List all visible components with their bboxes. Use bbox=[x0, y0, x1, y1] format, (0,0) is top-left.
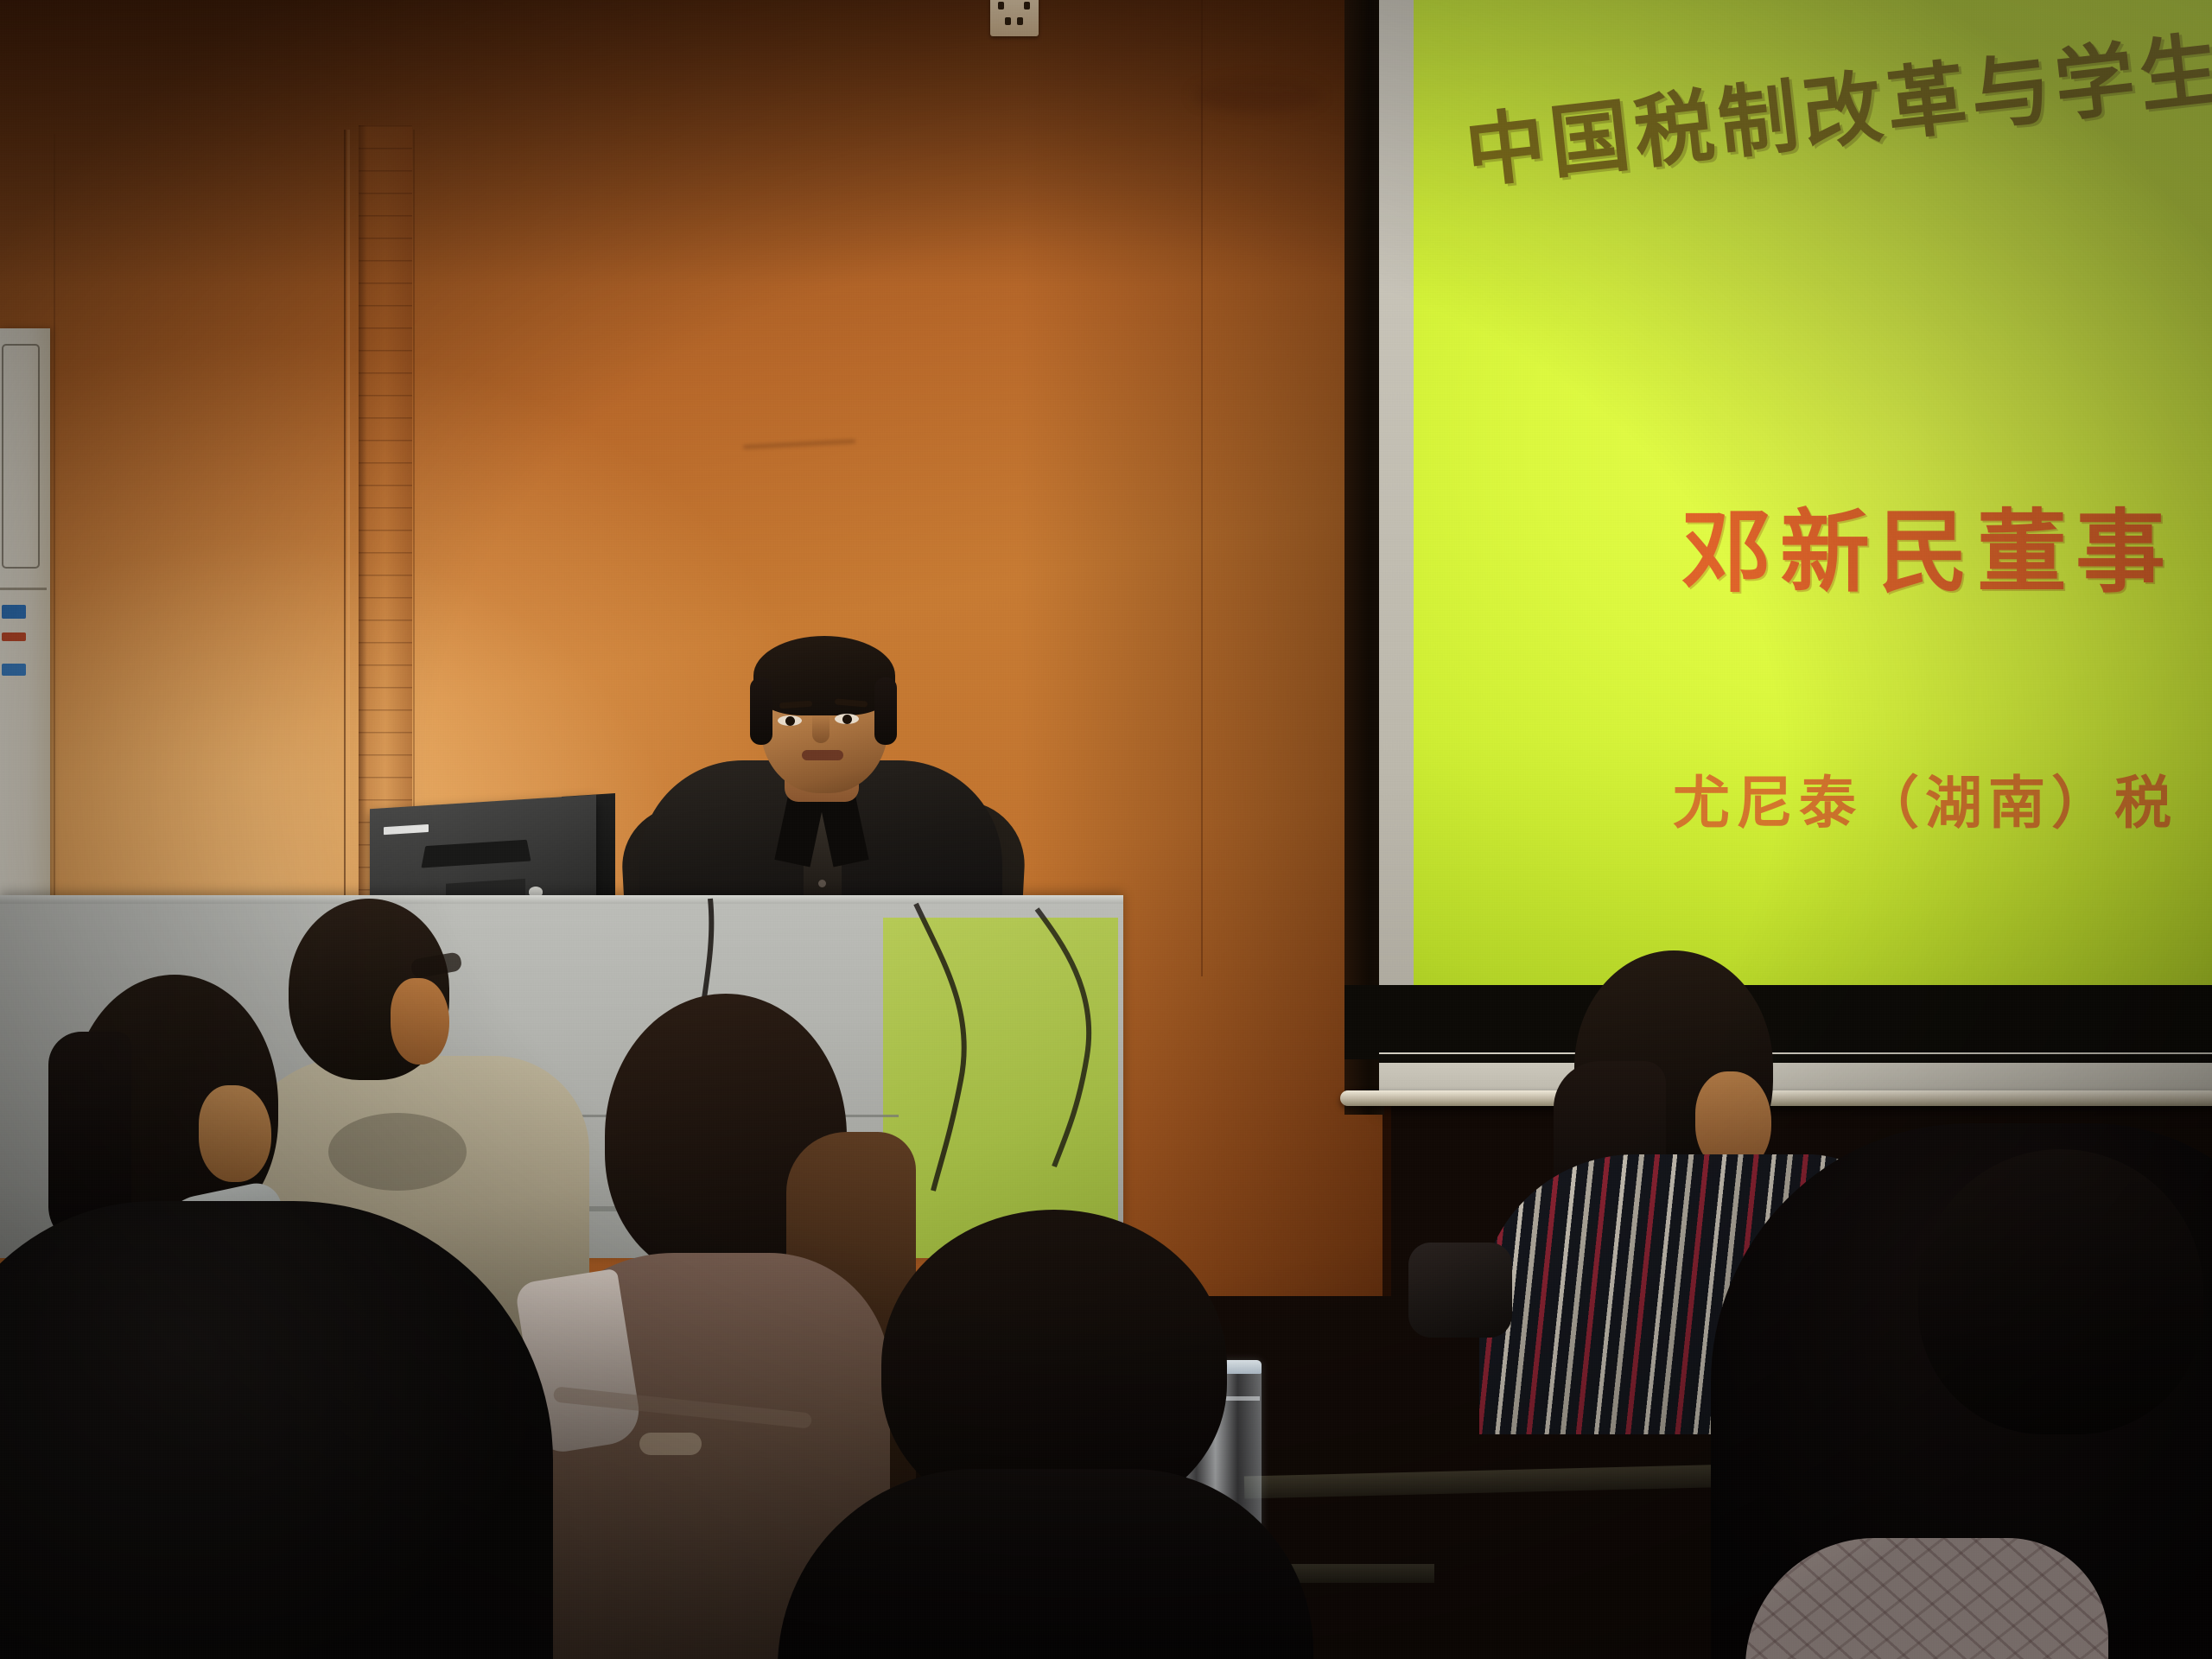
wall-panel-seam-a bbox=[344, 130, 346, 907]
wall-wood-slat-strip bbox=[359, 125, 412, 903]
wall-panel-edge-left bbox=[347, 130, 350, 907]
presenter-hair-side-right bbox=[874, 677, 897, 745]
lenovo-logo bbox=[384, 824, 429, 835]
presenter-eye-right bbox=[835, 714, 859, 724]
outlet-hole-right bbox=[1024, 2, 1030, 10]
audience-patterned-garment bbox=[1745, 1538, 2108, 1659]
slide-title-text: 中国税制改革与学生就 bbox=[1459, 0, 2212, 204]
presenter-mouth bbox=[802, 750, 843, 760]
notice-panel-frame bbox=[2, 344, 40, 569]
podium-cable-right bbox=[933, 909, 1123, 1168]
wall-notice-panel bbox=[0, 328, 50, 933]
wall-panel-seam-b bbox=[413, 130, 415, 907]
presenter-shirt-button bbox=[818, 880, 826, 887]
striped-top-bag bbox=[1408, 1243, 1512, 1338]
lenovo-monitor-rear bbox=[370, 795, 596, 911]
presenter-eye-left bbox=[778, 715, 802, 726]
notice-panel-chip-blue-2 bbox=[2, 664, 26, 676]
taupe-jacket-belt-buckle bbox=[639, 1433, 702, 1455]
outlet-hole-bottom-left bbox=[1005, 17, 1011, 25]
wall-power-outlet[interactable] bbox=[990, 0, 1039, 36]
right-back-hair bbox=[1918, 1149, 2203, 1434]
presenter-at-podium bbox=[639, 639, 1002, 907]
foreground-center-shoulders bbox=[778, 1469, 1313, 1659]
slide-organization-text: 尤尼泰（湖南）税 bbox=[1673, 757, 2177, 840]
presentation-photo-scene: 中国税制改革与学生就 邓新民董事 尤尼泰（湖南）税 bbox=[0, 0, 2212, 1659]
presenter-hair-side-left bbox=[750, 677, 772, 745]
audience-silhouette-foreground-left bbox=[0, 1201, 553, 1659]
notice-panel-chip-red bbox=[2, 632, 26, 641]
audience-silhouette-foreground-center bbox=[778, 1210, 1313, 1659]
notice-panel-chip-blue bbox=[2, 605, 26, 619]
red-sweater-face bbox=[199, 1085, 271, 1182]
monitor-vent bbox=[421, 840, 531, 868]
wall-panel-seam-c bbox=[54, 134, 55, 912]
projected-slide: 中国税制改革与学生就 邓新民董事 尤尼泰（湖南）税 bbox=[1414, 0, 2212, 1054]
outlet-hole-left bbox=[998, 2, 1004, 10]
wall-smudge-a bbox=[1192, 78, 1322, 112]
presenter-nose bbox=[812, 714, 829, 743]
notice-panel-divider bbox=[0, 588, 47, 590]
outlet-hole-bottom-right bbox=[1017, 17, 1023, 25]
slide-presenter-text: 邓新民董事 bbox=[1681, 479, 2174, 609]
wall-panel-seam-d bbox=[1201, 0, 1203, 976]
